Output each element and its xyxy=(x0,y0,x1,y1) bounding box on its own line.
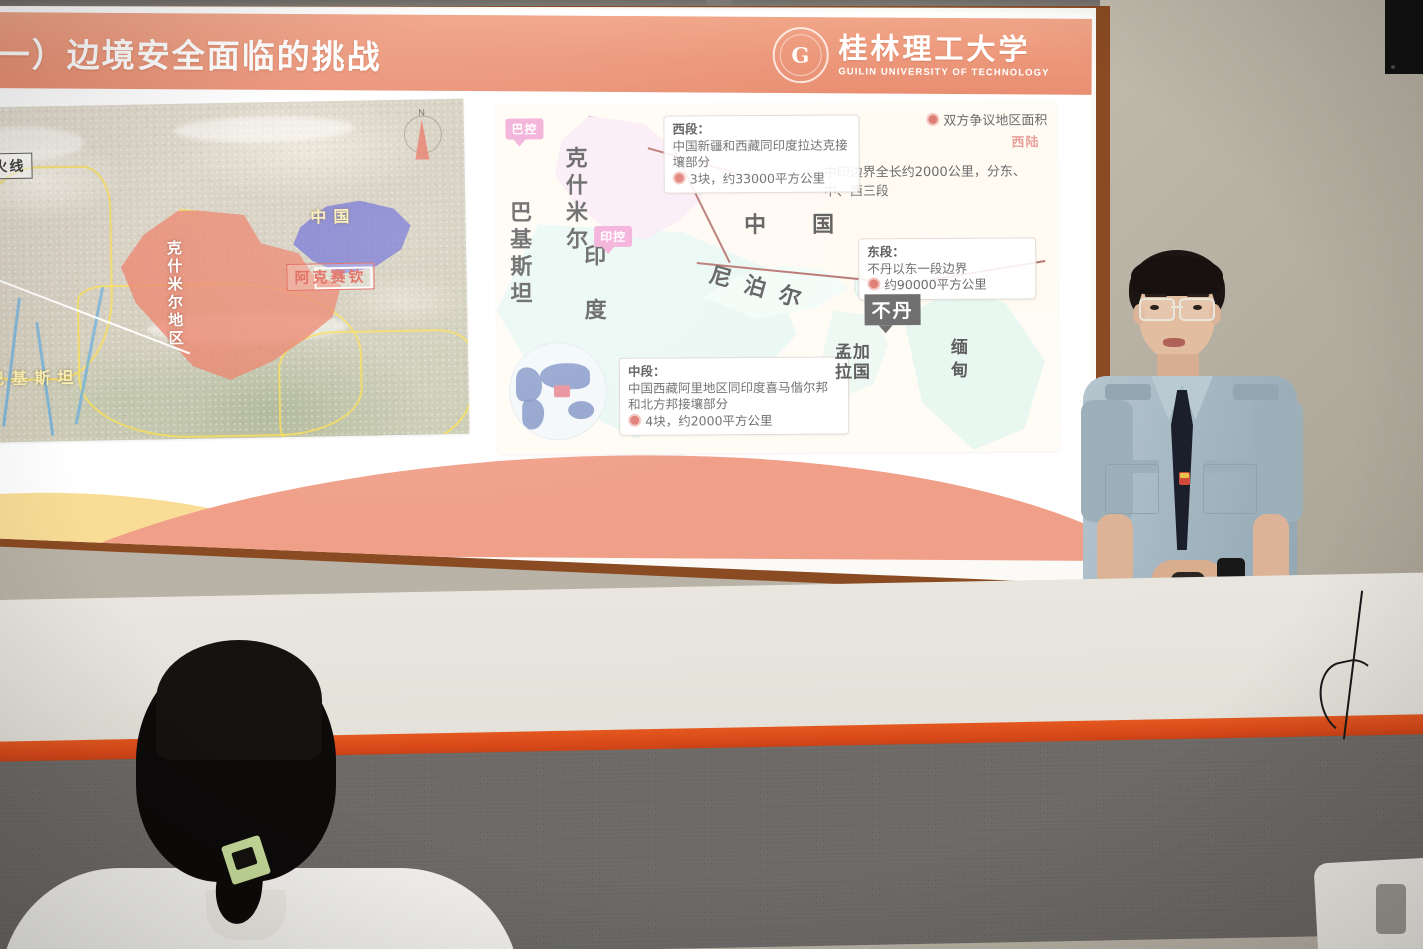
callout-dot-icon xyxy=(628,413,641,426)
callout-west: 西段： 中国新疆和西藏同印度拉达克接壤部分 3块，约33000平方公里 xyxy=(663,114,859,193)
presenter-mouth xyxy=(1163,338,1185,347)
presenter-brow-left xyxy=(1145,294,1167,297)
desk-metal-fitting xyxy=(1376,884,1406,934)
label-aksai-chin: 阿克赛钦 xyxy=(286,262,374,291)
compass-needle xyxy=(415,119,430,159)
map-label-kashmir: 克什米尔地区 xyxy=(164,240,187,348)
border-line xyxy=(278,329,470,444)
rmap-label-myanmar: 缅甸 xyxy=(945,338,970,384)
callout-east-stat: 约90000平方公里 xyxy=(884,277,986,293)
wall-speaker xyxy=(1385,0,1423,74)
callout-west-title: 西段： xyxy=(672,121,710,136)
callout-middle-title: 中段： xyxy=(628,364,666,379)
callout-east-title: 东段： xyxy=(867,244,905,259)
page-title: （一）边境安全面临的挑战 xyxy=(0,28,382,79)
presenter-pocket-right xyxy=(1203,464,1257,514)
wave-salmon xyxy=(0,434,1089,561)
map-label-pakistan: 巴基斯坦 xyxy=(0,364,81,390)
callout-middle: 中段： 中国西藏阿里地区同印度喜马偕尔邦和北方邦接壤部分 4块，约2000平方公… xyxy=(619,357,849,436)
callout-dot-icon xyxy=(673,171,686,184)
tag-india-controlled: 印控 xyxy=(594,226,632,247)
logo-name-cn: 桂林理工大学 xyxy=(838,34,1049,64)
callout-east: 东段： 不丹以东一段边界 约90000平方公里 xyxy=(858,237,1036,300)
callout-west-stat: 3块，约33000平方公里 xyxy=(690,170,825,186)
presenter-epaulette-right xyxy=(1233,384,1279,400)
projection-screen: （一）边境安全面临的挑战 G 桂林理工大学 GUILIN UNIVERSITY … xyxy=(0,6,1096,592)
presenter-epaulette-left xyxy=(1105,384,1151,400)
globe-highlight xyxy=(554,385,570,397)
rmap-label-pakistan: 巴基斯坦 xyxy=(502,200,535,308)
callout-east-body: 不丹以东一段边界 xyxy=(867,260,967,276)
rmap-label-kashmir: 克什米尔 xyxy=(558,146,591,254)
presenter-hair-top xyxy=(1131,256,1223,296)
globe-inset-icon xyxy=(509,342,608,441)
map-label-china: 中国 xyxy=(310,203,356,228)
glasses-icon xyxy=(1137,298,1217,318)
callout-west-body: 中国新疆和西藏同印度拉达克接壤部分 xyxy=(672,137,847,170)
tag-bhutan: 不丹 xyxy=(864,294,920,325)
audience-member-front xyxy=(110,640,410,949)
rmap-label-china: 中国 xyxy=(744,206,880,239)
rmap-label-india: 印度 xyxy=(576,244,609,352)
watermark: 西陆 xyxy=(1011,131,1039,150)
seal-mark: G xyxy=(791,43,809,68)
presenter-brow-right xyxy=(1187,294,1209,297)
right-border-map: 双方争议地区面积 西陆 中印边界全长约2000公里，分东、中、西三段 西段： 中… xyxy=(495,101,1059,454)
map-legend: 双方争议地区面积 xyxy=(926,109,1047,129)
logo-name-en: GUILIN UNIVERSITY OF TECHNOLOGY xyxy=(838,67,1049,78)
presenter-pocket-left xyxy=(1105,464,1159,514)
callout-dot-icon xyxy=(867,277,880,290)
audience-hair-crown xyxy=(156,640,322,760)
glasses-bridge xyxy=(1171,306,1183,308)
callout-middle-stat: 4块，约2000平方公里 xyxy=(645,412,772,428)
globe-landmass xyxy=(516,367,542,401)
compass-icon: N xyxy=(401,109,442,166)
slide-canvas: （一）边境安全面临的挑战 G 桂林理工大学 GUILIN UNIVERSITY … xyxy=(0,6,1092,561)
globe-landmass xyxy=(522,399,544,429)
rmap-label-bangladesh: 孟加拉国 xyxy=(835,342,875,383)
slide-footer-wave xyxy=(0,434,1089,561)
presenter-eye-right xyxy=(1193,305,1202,310)
presenter-forearm-left xyxy=(1097,514,1133,588)
screenshot-stage: （一）边境安全面临的挑战 G 桂林理工大学 GUILIN UNIVERSITY … xyxy=(0,0,1423,949)
globe-landmass xyxy=(568,401,594,419)
label-ceasefire-line: 印巴停火线 xyxy=(0,153,33,181)
presenter-eye-left xyxy=(1150,305,1159,310)
tag-pakistan-controlled: 巴控 xyxy=(505,118,543,139)
legend-dot-icon xyxy=(926,113,939,126)
legend-label: 双方争议地区面积 xyxy=(943,113,1047,129)
callout-middle-body: 中国西藏阿里地区同印度喜马偕尔邦和北方邦接壤部分 xyxy=(628,379,828,412)
seal-icon: G xyxy=(772,27,828,83)
left-satellite-map: 克什米尔地区 巴基斯坦 印度 中国 尼泊尔 印巴停火线 阿克赛钦 N xyxy=(0,99,469,443)
university-logo: G 桂林理工大学 GUILIN UNIVERSITY OF TECHNOLOGY xyxy=(772,27,1050,85)
foreground-desk xyxy=(1313,856,1423,949)
lapel-badge-icon xyxy=(1179,472,1190,485)
presenter-sleeve-right xyxy=(1251,400,1303,522)
